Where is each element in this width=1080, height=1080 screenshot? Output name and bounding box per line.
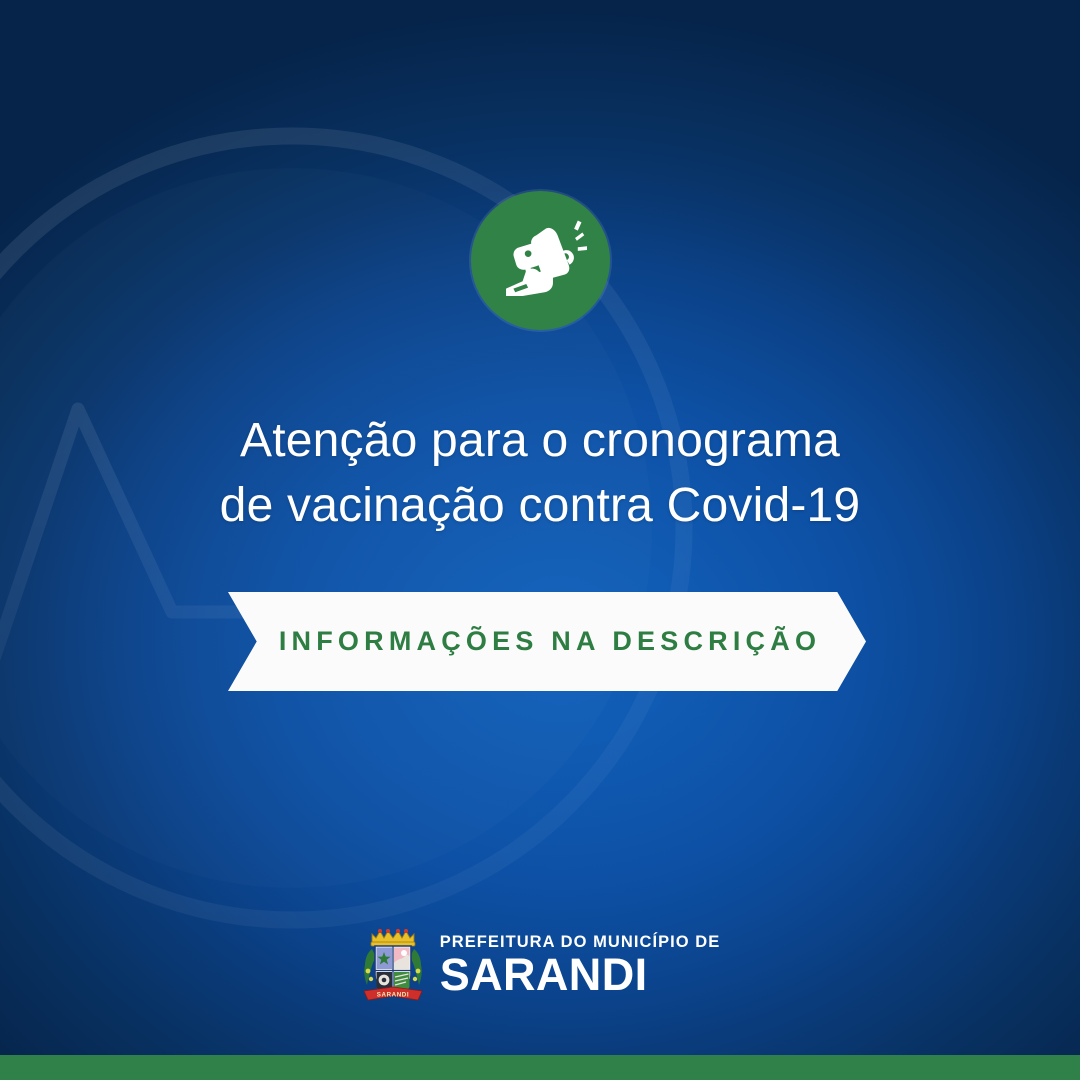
announcement-poster: Atenção para o cronograma de vacinação c… xyxy=(0,0,1080,1080)
sarandi-coat-of-arms-icon: SARANDI xyxy=(360,925,426,1005)
prefeitura-logo-lockup: SARANDI PREFEITURA DO MUNICÍPIO DE SARAN… xyxy=(0,925,1080,1005)
bottom-dark-fade xyxy=(0,1023,1080,1055)
bottom-green-stripe xyxy=(0,1055,1080,1080)
crest-ribbon: SARANDI xyxy=(364,987,422,1000)
org-line: PREFEITURA DO MUNICÍPIO DE xyxy=(440,934,721,951)
megaphone-badge xyxy=(471,191,610,330)
crest-ribbon-text: SARANDI xyxy=(376,992,408,999)
megaphone-icon xyxy=(495,215,587,307)
headline-line-1: Atenção para o cronograma xyxy=(0,408,1080,473)
cta-banner[interactable]: INFORMAÇÕES NA DESCRIÇÃO xyxy=(228,592,866,691)
cta-banner-label: INFORMAÇÕES NA DESCRIÇÃO xyxy=(273,626,821,657)
crest-crown xyxy=(371,929,415,946)
prefeitura-wordmark: PREFEITURA DO MUNICÍPIO DE SARANDI xyxy=(440,934,721,997)
city-name: SARANDI xyxy=(440,953,721,996)
page-title: Atenção para o cronograma de vacinação c… xyxy=(0,408,1080,538)
headline-line-2: de vacinação contra Covid-19 xyxy=(0,473,1080,538)
background-decoration xyxy=(0,0,1080,1080)
